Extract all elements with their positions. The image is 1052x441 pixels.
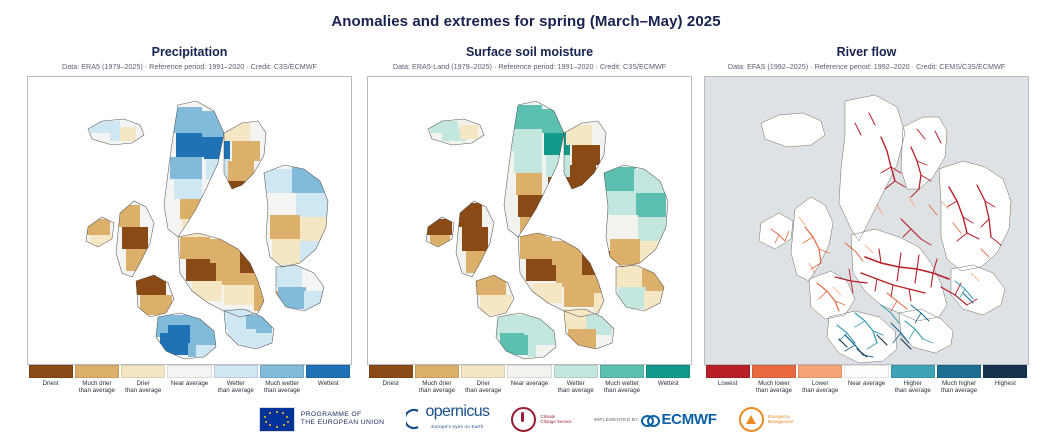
legend-swatch (646, 365, 690, 378)
legend-item: Near average (507, 365, 551, 395)
legend-label: Near average (844, 380, 888, 387)
legend-swatch (306, 365, 350, 378)
legend-item: Driest (369, 365, 413, 395)
legend-item: Much lowerthan average (752, 365, 796, 395)
cems-ring-icon (739, 407, 764, 432)
legend-swatch (214, 365, 258, 378)
legend-item: Much wetterthan average (600, 365, 644, 395)
eu-logo-text: PROGRAMME OF THE EUROPEAN UNION (301, 411, 385, 428)
legend-label: Near average (507, 380, 551, 387)
legend-item: Wettest (646, 365, 690, 395)
figure: Anomalies and extremes for spring (March… (0, 0, 1052, 441)
legend-item: Wettest (306, 365, 350, 395)
map-surface-soil-moisture (367, 76, 692, 365)
legend-item: Driest (29, 365, 73, 395)
legend-label: Near average (167, 380, 211, 387)
c3s-text: Climate Change Service (540, 414, 571, 425)
legend-label: Wetterthan average (554, 380, 598, 395)
legend-label: Driest (369, 380, 413, 387)
panel-title-river-flow: River flow (700, 45, 1033, 59)
legend-swatch (706, 365, 750, 378)
c3s-logo: Climate Change Service (511, 407, 571, 432)
map-river-flow (704, 76, 1029, 365)
legend-river-flow: Lowest Much lowerthan average Lowerthan … (700, 365, 1033, 395)
legend-item: Drierthan average (461, 365, 505, 395)
legend-item: Lowerthan average (798, 365, 842, 395)
ecmwf-mark-icon (641, 413, 658, 425)
eu-logo-line2: THE EUROPEAN UNION (301, 419, 385, 427)
panel-title-precipitation: Precipitation (23, 45, 356, 59)
legend-swatch (121, 365, 165, 378)
copernicus-logo: opernicus Europe's eyes on Earth (406, 404, 489, 434)
legend-item: Lowest (706, 365, 750, 395)
legend-label: Lowerthan average (798, 380, 842, 395)
legend-surface-soil-moisture: Driest Much drierthan average Drierthan … (363, 365, 696, 395)
legend-label: Drierthan average (121, 380, 165, 395)
legend-label: Driest (29, 380, 73, 387)
legend-item: Near average (167, 365, 211, 395)
legend-label: Much lowerthan average (752, 380, 796, 395)
ecmwf-logo: IMPLEMENTED BY ECMWF (594, 411, 717, 428)
legend-label: Highest (983, 380, 1027, 387)
eu-logo-line1: PROGRAMME OF (301, 411, 385, 419)
legend-swatch (983, 365, 1027, 378)
legend-swatch (844, 365, 888, 378)
legend-swatch (29, 365, 73, 378)
footer-logos: PROGRAMME OF THE EUROPEAN UNION opernicu… (0, 404, 1052, 434)
legend-swatch (891, 365, 935, 378)
legend-label: Much higherthan average (937, 380, 981, 395)
panel-title-surface-soil-moisture: Surface soil moisture (363, 45, 696, 59)
legend-swatch (415, 365, 459, 378)
legend-item: Drierthan average (121, 365, 165, 395)
legend-item: Wetterthan average (554, 365, 598, 395)
map-precipitation-canvas (28, 77, 351, 364)
cems-logo: Emergency Management (739, 407, 794, 432)
legend-swatch (461, 365, 505, 378)
map-precipitation (27, 76, 352, 365)
legend-label: Much wetterthan average (600, 380, 644, 395)
eu-logo: PROGRAMME OF THE EUROPEAN UNION (259, 407, 385, 432)
panel-river-flow: River flow Data: EFAS (1992–2025) · Refe… (700, 45, 1033, 365)
legend-swatch (167, 365, 211, 378)
legend-label: Wettest (306, 380, 350, 387)
legend-label: Drierthan average (461, 380, 505, 395)
figure-title: Anomalies and extremes for spring (March… (0, 13, 1052, 30)
legend-label: Wetterthan average (214, 380, 258, 395)
legend-swatch (369, 365, 413, 378)
legend-label: Wettest (646, 380, 690, 387)
legend-label: Much drierthan average (75, 380, 119, 395)
panel-precipitation: Precipitation Data: ERA5 (1979–2025) · R… (23, 45, 356, 365)
map-river-flow-canvas (705, 77, 1028, 364)
legend-label: Lowest (706, 380, 750, 387)
legend-swatch (507, 365, 551, 378)
copernicus-tagline: Europe's eyes on Earth (425, 419, 489, 434)
legend-label: Much drierthan average (415, 380, 459, 395)
legend-item: Near average (844, 365, 888, 395)
legend-item: Highest (983, 365, 1027, 395)
legend-item: Much higherthan average (937, 365, 981, 395)
legend-swatch (75, 365, 119, 378)
panel-surface-soil-moisture: Surface soil moisture Data: ERA5-Land (1… (363, 45, 696, 365)
panel-subtitle-river-flow: Data: EFAS (1992–2025) · Reference perio… (700, 62, 1033, 71)
legend-swatch (600, 365, 644, 378)
legend-label: Much wetterthan average (260, 380, 304, 395)
copernicus-text: opernicus (425, 403, 489, 420)
legend-swatch (798, 365, 842, 378)
legend-item: Much drierthan average (75, 365, 119, 395)
c3s-line2: Change Service (540, 419, 571, 424)
map-surface-soil-moisture-canvas (368, 77, 691, 364)
legend-swatch (937, 365, 981, 378)
cems-triangle-icon (746, 415, 756, 424)
legend-item: Much wetterthan average (260, 365, 304, 395)
copernicus-arc-icon (406, 408, 419, 430)
copernicus-wordmark: opernicus Europe's eyes on Earth (425, 404, 489, 434)
cems-line2: Management (768, 419, 794, 424)
legend-label: Higherthan average (891, 380, 935, 395)
eu-flag-icon (259, 407, 295, 432)
legend-item: Wetterthan average (214, 365, 258, 395)
cems-text: Emergency Management (768, 414, 794, 425)
panel-subtitle-surface-soil-moisture: Data: ERA5-Land (1979–2025) · Reference … (363, 62, 696, 71)
implemented-by-text: IMPLEMENTED BY (594, 417, 639, 422)
c3s-ring-icon (511, 407, 536, 432)
legend-swatch (260, 365, 304, 378)
ecmwf-text: ECMWF (661, 411, 716, 428)
legend-swatch (752, 365, 796, 378)
legend-item: Higherthan average (891, 365, 935, 395)
legend-item: Much drierthan average (415, 365, 459, 395)
legend-swatch (554, 365, 598, 378)
legend-precipitation: Driest Much drierthan average Drierthan … (23, 365, 356, 395)
panel-subtitle-precipitation: Data: ERA5 (1979–2025) · Reference perio… (23, 62, 356, 71)
